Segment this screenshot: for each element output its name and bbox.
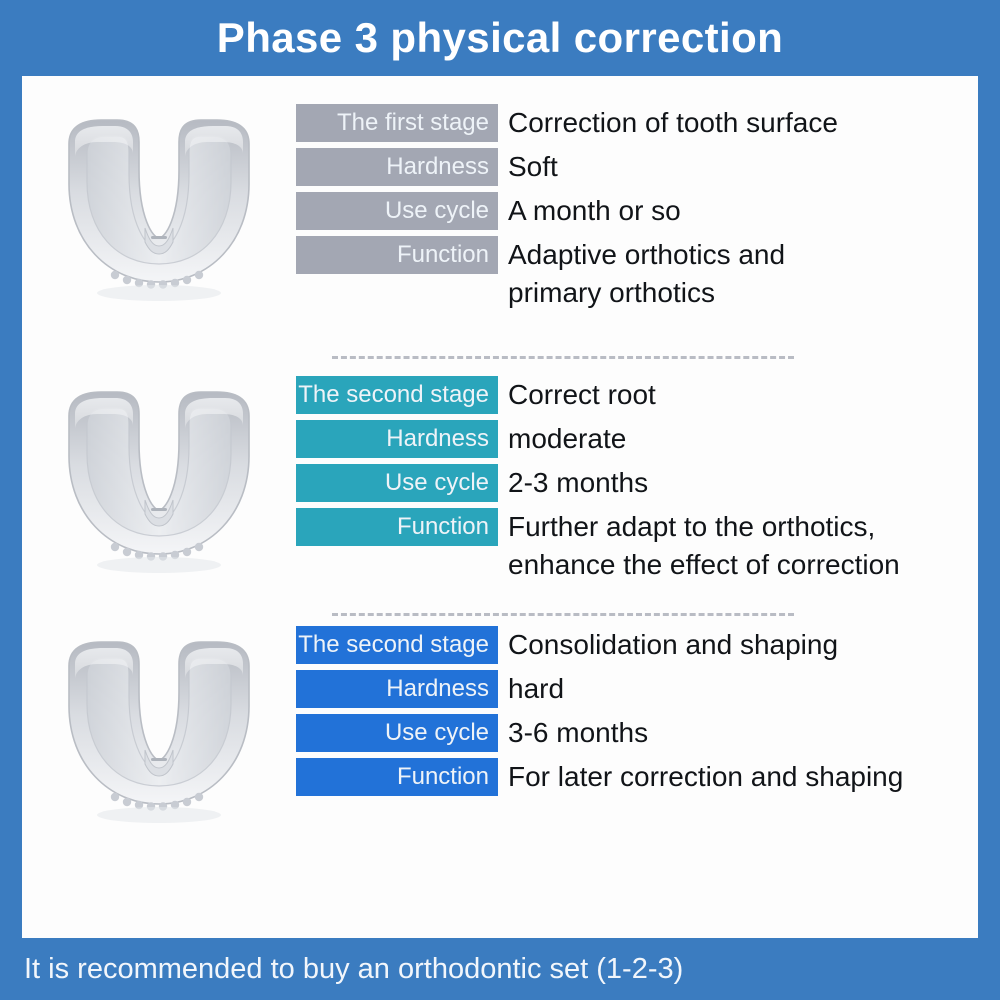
row-value: Further adapt to the orthotics, enhance … bbox=[498, 508, 978, 584]
product-image-3 bbox=[22, 626, 296, 828]
row-label: Use cycle bbox=[296, 464, 498, 502]
stage-rows-2: The second stage Correct root Hardness m… bbox=[296, 376, 978, 590]
table-row: Use cycle 2-3 months bbox=[296, 464, 978, 502]
row-label: Use cycle bbox=[296, 192, 498, 230]
product-image-1 bbox=[22, 104, 296, 306]
row-value: Soft bbox=[498, 148, 978, 186]
row-label: Function bbox=[296, 236, 498, 274]
table-row: Function Adaptive orthotics and primary … bbox=[296, 236, 978, 312]
table-row: The first stage Correction of tooth surf… bbox=[296, 104, 978, 142]
stage-block-1: The first stage Correction of tooth surf… bbox=[22, 104, 978, 318]
row-label: The second stage bbox=[296, 376, 498, 414]
row-value: Consolidation and shaping bbox=[498, 626, 978, 664]
row-value: hard bbox=[498, 670, 978, 708]
row-value: moderate bbox=[498, 420, 978, 458]
footer-banner: It is recommended to buy an orthodontic … bbox=[0, 938, 1000, 1000]
infographic-page: Phase 3 physical correction bbox=[0, 0, 1000, 1000]
table-row: Function For later correction and shapin… bbox=[296, 758, 978, 796]
row-label: Use cycle bbox=[296, 714, 498, 752]
table-row: Hardness moderate bbox=[296, 420, 978, 458]
row-value: Correction of tooth surface bbox=[498, 104, 978, 142]
footer-recommendation-text: It is recommended to buy an orthodontic … bbox=[0, 955, 683, 984]
row-label: Function bbox=[296, 508, 498, 546]
section-divider bbox=[332, 356, 794, 359]
table-row: The second stage Consolidation and shapi… bbox=[296, 626, 978, 664]
table-row: Hardness hard bbox=[296, 670, 978, 708]
row-value: A month or so bbox=[498, 192, 978, 230]
row-value: Correct root bbox=[498, 376, 978, 414]
row-label: Hardness bbox=[296, 670, 498, 708]
row-value: 2-3 months bbox=[498, 464, 978, 502]
stage-rows-3: The second stage Consolidation and shapi… bbox=[296, 626, 978, 802]
stage-rows-1: The first stage Correction of tooth surf… bbox=[296, 104, 978, 318]
table-row: Function Further adapt to the orthotics,… bbox=[296, 508, 978, 584]
content-card: The first stage Correction of tooth surf… bbox=[22, 76, 978, 938]
page-title: Phase 3 physical correction bbox=[217, 17, 783, 59]
row-value: Adaptive orthotics and primary orthotics bbox=[498, 236, 978, 312]
row-label: Hardness bbox=[296, 420, 498, 458]
table-row: The second stage Correct root bbox=[296, 376, 978, 414]
row-label: The second stage bbox=[296, 626, 498, 664]
mouthguard-icon bbox=[53, 110, 265, 306]
stage-block-2: The second stage Correct root Hardness m… bbox=[22, 376, 978, 590]
stage-block-3: The second stage Consolidation and shapi… bbox=[22, 626, 978, 828]
table-row: Use cycle A month or so bbox=[296, 192, 978, 230]
section-divider bbox=[332, 613, 794, 616]
row-value: 3-6 months bbox=[498, 714, 978, 752]
row-label: Hardness bbox=[296, 148, 498, 186]
row-value: For later correction and shaping bbox=[498, 758, 978, 796]
mouthguard-icon bbox=[53, 632, 265, 828]
product-image-2 bbox=[22, 376, 296, 578]
table-row: Use cycle 3-6 months bbox=[296, 714, 978, 752]
mouthguard-icon bbox=[53, 382, 265, 578]
row-label: Function bbox=[296, 758, 498, 796]
row-label: The first stage bbox=[296, 104, 498, 142]
table-row: Hardness Soft bbox=[296, 148, 978, 186]
header-banner: Phase 3 physical correction bbox=[0, 0, 1000, 75]
